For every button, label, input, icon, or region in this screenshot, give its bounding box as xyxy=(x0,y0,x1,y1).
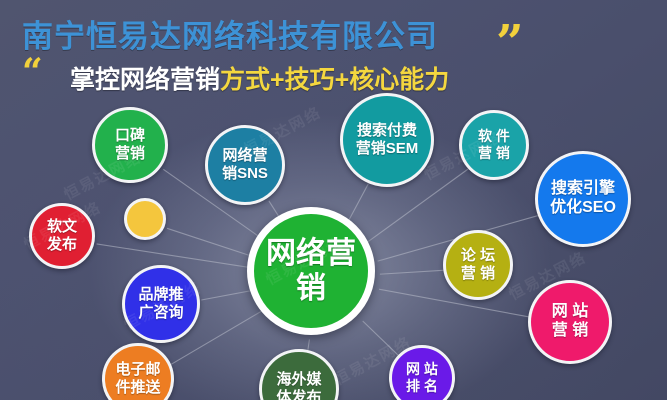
node-label: 搜索付费营销SEM xyxy=(354,122,421,157)
connector-line xyxy=(97,244,257,269)
subtitle-part-yellow: 方式+技巧+核心能力 xyxy=(220,66,449,94)
node-label: 网 站排 名 xyxy=(404,361,440,394)
subtitle: 掌控网络营销方式+技巧+核心能力 xyxy=(70,60,449,96)
node-label: 网 站营 销 xyxy=(550,303,590,341)
connector-line xyxy=(380,270,447,274)
subtitle-part-white: 掌控网络营销 xyxy=(70,66,220,94)
node-label: 电子邮件推送 xyxy=(113,361,162,396)
quote-open-icon: “ xyxy=(22,59,43,85)
connector-line xyxy=(201,290,257,301)
header: 南宁恒易达网络科技有限公司 “ ” 掌控网络营销方式+技巧+核心能力 xyxy=(0,0,667,104)
connector-line xyxy=(167,228,259,258)
company-title: 南宁恒易达网络科技有限公司 xyxy=(22,11,438,56)
node-label: 论 坛营 销 xyxy=(459,247,497,282)
topic-node[interactable]: 搜索引擎优化SEO xyxy=(535,151,631,247)
node-label: 海外媒体发布 xyxy=(274,371,323,400)
node-label: 网络营销 xyxy=(254,236,368,307)
topic-node[interactable]: 网络营销SNS xyxy=(205,125,285,205)
center-node[interactable]: 网络营销 xyxy=(247,207,375,335)
quote-close-icon: ” xyxy=(496,26,524,60)
infographic-canvas: 恒易达网络恒易达网络恒易达网络恒易达网络恒易达网络恒易达网络恒易达网络恒易达网络… xyxy=(0,0,667,400)
topic-node[interactable]: 品牌推广咨询 xyxy=(122,265,200,343)
topic-node[interactable]: 论 坛营 销 xyxy=(443,230,513,300)
node-label: 口碑营销 xyxy=(113,127,147,162)
topic-node[interactable]: 搜索付费营销SEM xyxy=(340,93,434,187)
node-label: 网络营销SNS xyxy=(220,147,270,182)
topic-node[interactable]: 网 站营 销 xyxy=(528,280,612,364)
node-label: 搜索引擎优化SEO xyxy=(548,180,618,218)
node-label: 软文发布 xyxy=(45,218,79,253)
topic-node[interactable]: 软 件营 销 xyxy=(459,110,529,180)
connector-line xyxy=(363,321,402,359)
node-label: 软 件营 销 xyxy=(476,128,512,161)
topic-node[interactable]: 口碑营销 xyxy=(92,107,168,183)
topic-node[interactable] xyxy=(124,198,166,240)
topic-node[interactable]: 软文发布 xyxy=(29,203,95,269)
node-label: 品牌推广咨询 xyxy=(136,286,185,321)
connector-line xyxy=(347,184,368,224)
connector-line xyxy=(379,289,533,317)
